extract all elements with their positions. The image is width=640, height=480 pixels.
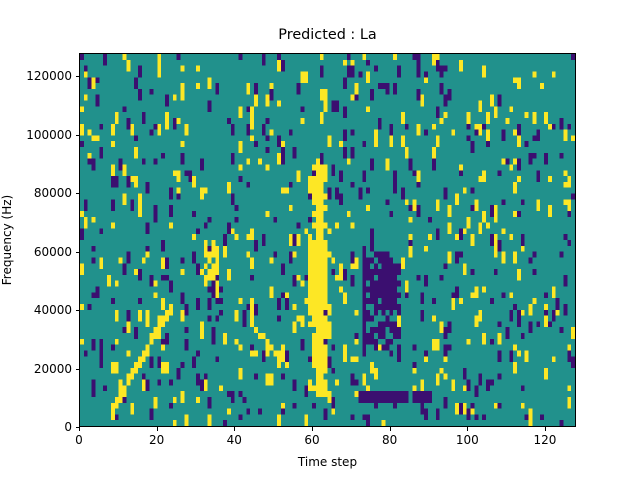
y-tick-label: 40000 <box>34 303 72 317</box>
x-tick-mark <box>312 427 313 431</box>
x-tick-mark <box>390 427 391 431</box>
page-title: Predicted : La <box>79 27 576 44</box>
x-tick-label: 0 <box>75 433 83 447</box>
y-tick-label: 0 <box>64 420 72 434</box>
x-tick-mark <box>545 427 546 431</box>
x-tick-label: 40 <box>227 433 242 447</box>
heatmap-plot-area[interactable] <box>79 53 576 427</box>
y-tick-mark <box>76 193 80 194</box>
x-tick-label: 60 <box>304 433 319 447</box>
x-tick-mark <box>467 427 468 431</box>
y-tick-label: 20000 <box>34 362 72 376</box>
y-tick-mark <box>76 76 80 77</box>
x-tick-label: 20 <box>149 433 164 447</box>
heatmap-image <box>80 54 575 426</box>
y-tick-mark <box>76 135 80 136</box>
y-tick-label: 60000 <box>34 245 72 259</box>
x-tick-mark <box>157 427 158 431</box>
x-tick-mark <box>79 427 80 431</box>
x-tick-label: 80 <box>382 433 397 447</box>
x-tick-mark <box>234 427 235 431</box>
y-tick-label: 80000 <box>34 186 72 200</box>
y-tick-mark <box>76 427 80 428</box>
figure-canvas: Predicted : La 0204060801001200200004000… <box>0 0 640 480</box>
y-tick-label: 100000 <box>26 128 72 142</box>
y-tick-label: 120000 <box>26 69 72 83</box>
x-tick-label: 100 <box>456 433 479 447</box>
x-axis-label: Time step <box>79 455 576 469</box>
y-tick-mark <box>76 252 80 253</box>
y-tick-mark <box>76 369 80 370</box>
x-tick-label: 120 <box>533 433 556 447</box>
y-tick-mark <box>76 310 80 311</box>
y-axis-label: Frequency (Hz) <box>0 195 14 286</box>
